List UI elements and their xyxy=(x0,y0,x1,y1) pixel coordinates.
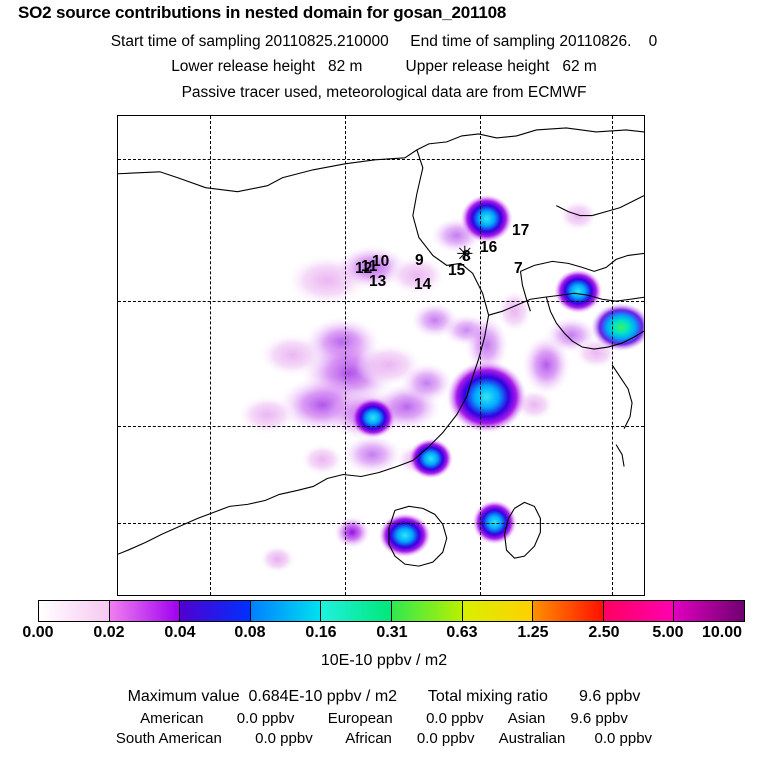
colorbar-tick-4: 0.16 xyxy=(305,624,336,642)
receptor-site-star-icon: ✳ xyxy=(456,244,474,265)
colorbar-segment-4 xyxy=(251,601,322,621)
sampling-time-line: Start time of sampling 20110825.210000 E… xyxy=(0,33,768,51)
source-label-16: 16 xyxy=(480,240,497,256)
footer-contributions-line-1: American 0.0 ppbv European 0.0 ppbv Asia… xyxy=(0,710,768,727)
colorbar-tick-8: 2.50 xyxy=(588,624,619,642)
colorbar-tick-0: 0.00 xyxy=(22,624,53,642)
colorbar-segment-8 xyxy=(533,601,604,621)
colorbar-segment-6 xyxy=(392,601,463,621)
colorbar xyxy=(38,600,745,622)
footer-contributions-line-2: South American 0.0 ppbv African 0.0 ppbv… xyxy=(0,730,768,747)
colorbar-tick-2: 0.04 xyxy=(164,624,195,642)
colorbar-segment-7 xyxy=(463,601,534,621)
colorbar-unit-label: 10E-10 ppbv / m2 xyxy=(0,652,768,670)
footer-max-and-total-line: Maximum value 0.684E-10 ppbv / m2 Total … xyxy=(0,688,768,706)
statistics-footer: Maximum value 0.684E-10 ppbv / m2 Total … xyxy=(0,688,768,750)
colorbar-segment-5 xyxy=(321,601,392,621)
colorbar-tick-labels: 0.00 0.02 0.04 0.08 0.16 0.31 0.63 1.25 … xyxy=(0,624,768,644)
map-plot-area: 12 10 11 13 9 14 15 8 16 17 7 ✳ xyxy=(117,115,645,596)
colorbar-segment-1 xyxy=(39,601,110,621)
colorbar-tick-6: 0.63 xyxy=(446,624,477,642)
source-label-7: 7 xyxy=(514,261,523,277)
source-label-13: 13 xyxy=(369,274,386,290)
colorbar-tick-5: 0.31 xyxy=(376,624,407,642)
source-label-14: 14 xyxy=(414,277,431,293)
tracer-meteorology-line: Passive tracer used, meteorological data… xyxy=(0,84,768,102)
colorbar-tick-10: 10.00 xyxy=(702,624,742,642)
figure-root: SO2 source contributions in nested domai… xyxy=(0,0,768,768)
colorbar-segment-9 xyxy=(604,601,675,621)
colorbar-tick-1: 0.02 xyxy=(93,624,124,642)
source-label-9: 9 xyxy=(415,253,424,269)
figure-title: SO2 source contributions in nested domai… xyxy=(18,3,506,23)
colorbar-tick-9: 5.00 xyxy=(652,624,683,642)
source-label-layer: 12 10 11 13 9 14 15 8 16 17 7 ✳ xyxy=(118,116,644,595)
colorbar-segment-10 xyxy=(674,601,744,621)
colorbar-segment-3 xyxy=(180,601,251,621)
colorbar-tick-3: 0.08 xyxy=(234,624,265,642)
source-label-17: 17 xyxy=(512,223,529,239)
release-height-line: Lower release height 82 m Upper release … xyxy=(0,58,768,76)
colorbar-segment-2 xyxy=(110,601,181,621)
colorbar-tick-7: 1.25 xyxy=(517,624,548,642)
